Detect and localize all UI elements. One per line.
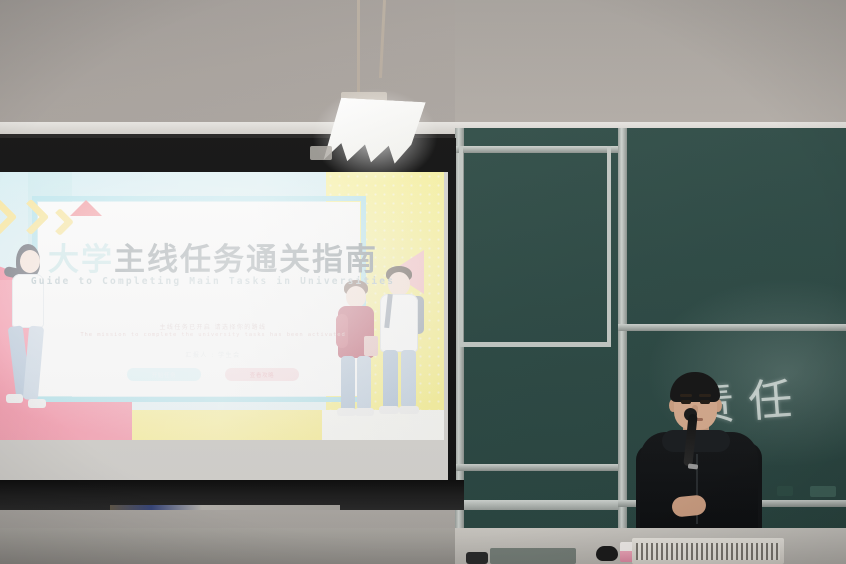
slide-subtitle: Guide to Completing Main Tasks in Univer…	[0, 276, 444, 287]
illustration-male-student-backpack	[372, 266, 430, 424]
projector-mount	[310, 146, 332, 160]
eyebrow-right	[699, 394, 711, 397]
chalkboard-panel-edge-left	[459, 146, 463, 346]
chalkboard-panel-edge-bottom	[459, 342, 611, 347]
leg	[341, 356, 355, 410]
shoe	[379, 406, 399, 414]
microphone-ring	[688, 463, 698, 469]
chalkboard-eraser-secondary	[777, 486, 793, 496]
hair	[670, 372, 720, 402]
chalkboard-eraser	[810, 486, 836, 497]
slide-presenter-line: 汇报人 : 学生会	[0, 350, 444, 359]
shoe	[28, 399, 46, 408]
lamp-suspension-rod	[357, 0, 360, 98]
desk-mat	[490, 548, 576, 564]
head	[346, 286, 366, 308]
desk-object	[466, 552, 488, 564]
slide-note-chinese: 主线任务已开启 请选择你的路线	[0, 322, 444, 331]
slide-button-row: 开始任务 查看攻略	[0, 368, 444, 381]
slide-title-main: 主线任务通关指南	[114, 242, 378, 278]
eye-left	[681, 400, 691, 404]
slide-title: 大学主线任务通关指南	[0, 234, 444, 279]
chalk-tray	[455, 500, 618, 510]
slide-button-primary[interactable]: 开始任务	[127, 368, 201, 381]
shoe	[337, 408, 356, 416]
computer-mouse[interactable]	[596, 546, 618, 561]
classroom-scene: 责任	[0, 0, 846, 564]
projection-screen-rail	[110, 505, 340, 510]
eye-right	[700, 400, 710, 404]
triangle-icon	[70, 200, 102, 216]
slide-card	[40, 204, 358, 394]
wall-upper-right	[455, 0, 846, 140]
eyebrow-left	[680, 394, 692, 397]
chalkboard-panel-edge-right	[607, 146, 611, 346]
arm	[336, 314, 348, 348]
slide-title-faded: 大学	[48, 242, 114, 278]
hood	[662, 430, 730, 452]
chalkboard-frame-mid-right	[618, 324, 846, 331]
shoe	[6, 394, 23, 403]
slide-yellow-band-bottom	[132, 410, 332, 440]
slide-button-secondary[interactable]: 查看攻略	[225, 368, 299, 381]
desk-surface-left	[0, 528, 470, 564]
leg	[357, 356, 371, 410]
presentation-slide: 大学主线任务通关指南 Guide to Completing Main Task…	[0, 172, 444, 440]
chalkboard-frame-bottom-left	[455, 464, 618, 471]
chalkboard-frame-top-left	[455, 146, 618, 153]
slide-note-english: The mission to complete the university t…	[0, 332, 444, 338]
shoe	[399, 406, 419, 414]
keyboard-keys[interactable]	[636, 543, 780, 560]
projection-screen: 大学主线任务通关指南 Guide to Completing Main Task…	[0, 172, 448, 482]
